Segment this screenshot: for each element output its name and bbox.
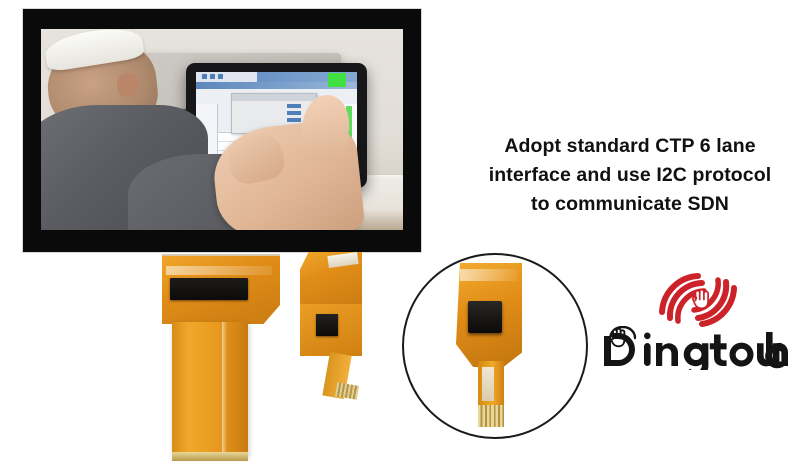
photo-inner: [41, 29, 403, 230]
headline-line-2: interface and use I2C protocol: [470, 161, 790, 190]
fpc-left-driver-ic: [170, 278, 248, 300]
brand-logo: [600, 268, 796, 380]
screen-icon-c: [218, 74, 223, 79]
fpc-left-gold-fingers: [172, 452, 248, 461]
fpc-left-tail: [172, 322, 248, 456]
fpc-left-tail-highlight: [222, 322, 227, 456]
inset-gold-finger-connector: [478, 405, 504, 427]
headline-line-3: to communicate SDN: [470, 190, 790, 219]
fpc-product-photo: [150, 252, 420, 467]
magnified-detail-circle: [402, 253, 588, 439]
screen-dialog-button-2: [287, 111, 300, 115]
poster-canvas: Adopt standard CTP 6 lane interface and …: [0, 0, 800, 467]
headline-line-1: Adopt standard CTP 6 lane: [470, 132, 790, 161]
product-application-photo: [22, 8, 422, 253]
inset-touch-controller-ic: [468, 301, 502, 333]
screen-icon-b: [210, 74, 215, 79]
worker-ear: [117, 73, 139, 97]
brand-wordmark: [600, 326, 796, 370]
screen-dialog-button-3: [287, 118, 300, 122]
inset-fpc-stiffener: [482, 367, 494, 401]
inset-fpc-highlight: [460, 269, 518, 281]
screen-icon-a: [202, 74, 207, 79]
screen-dialog-title: [232, 94, 316, 100]
screen-dialog-button-1: [287, 104, 300, 108]
fingerprint-touch-icon: [652, 268, 744, 330]
fpc-left-highlight: [166, 266, 272, 275]
screen-status-cell: [328, 73, 346, 87]
fpc-middle-controller-ic: [316, 314, 338, 336]
headline-text: Adopt standard CTP 6 lane interface and …: [470, 132, 790, 219]
